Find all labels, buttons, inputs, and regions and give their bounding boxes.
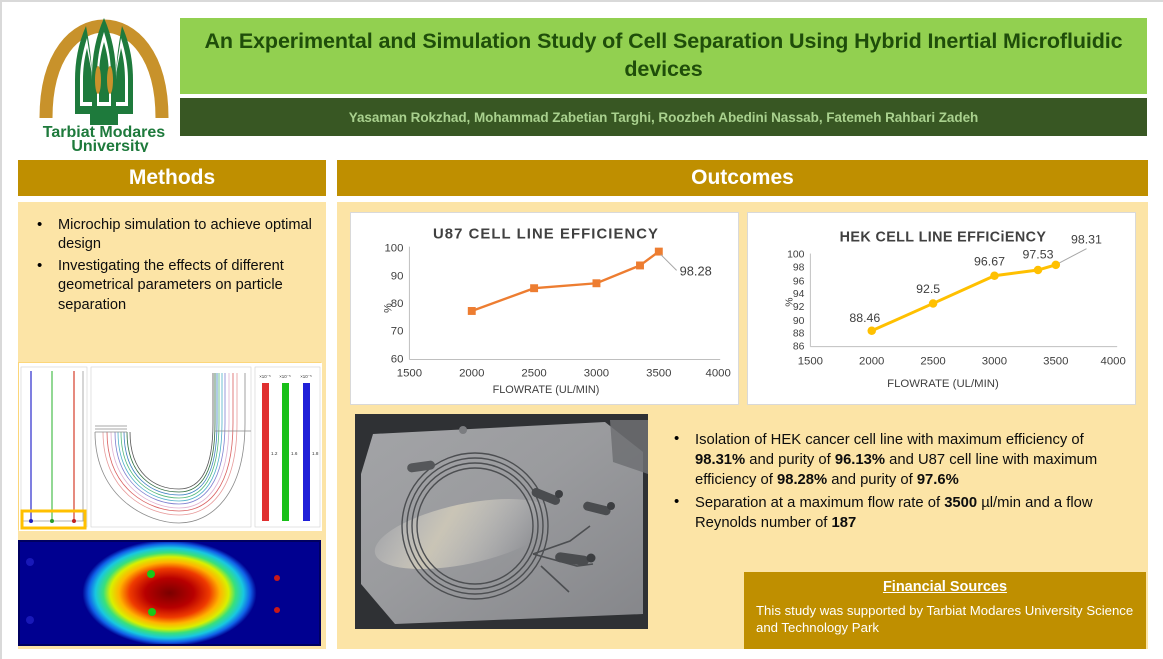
- outcomes-section-header: Outcomes: [337, 160, 1148, 196]
- poster-title-banner: An Experimental and Simulation Study of …: [180, 18, 1147, 94]
- authors-list: Yasaman Rokzhad, Mohammad Zabetian Targh…: [349, 110, 978, 125]
- bullet1-value3: 98.28%: [777, 472, 827, 488]
- y-tick: 100: [384, 243, 403, 255]
- colorbar-exponent-label-1: ×10⁻⁵: [259, 374, 271, 379]
- bullet2-value1: 3500: [944, 495, 977, 511]
- methods-bullet-list: Microchip simulation to achieve optimal …: [18, 202, 326, 323]
- y-tick: 98: [793, 262, 805, 273]
- chip-photo-artwork: [355, 414, 648, 629]
- list-item: Isolation of HEK cancer cell line with m…: [669, 430, 1135, 490]
- y-axis-label: %: [383, 303, 395, 313]
- colorbar-exponent-label-3: ×10⁻⁵: [300, 374, 312, 379]
- logo-artwork: Tarbiat Modares University: [30, 10, 178, 152]
- colorbar-exponent-label-2: ×10⁻⁵: [279, 374, 291, 379]
- y-tick: 100: [787, 250, 805, 261]
- chart-title: U87 CELL LINE EFFICIENCY: [433, 227, 659, 243]
- x-tick: 4000: [706, 367, 731, 379]
- x-axis-label: FLOWRATE (UL/MIN): [887, 378, 999, 390]
- bullet1-value2: 96.13%: [835, 452, 885, 468]
- financial-sources-box: Financial Sources This study was support…: [744, 572, 1146, 649]
- y-tick: 90: [391, 270, 404, 282]
- bullet1-value4: 97.6%: [917, 472, 959, 488]
- x-tick: 1500: [397, 367, 422, 379]
- x-tick: 3500: [646, 367, 671, 379]
- x-tick: 2500: [920, 355, 945, 367]
- bullet1-part4: and purity of: [827, 472, 917, 488]
- hek-chart-svg: HEK CELL LINE EFFICiENCY 100 98 96 94 92…: [748, 213, 1135, 404]
- microfluidic-chip-photograph: [355, 414, 648, 629]
- y-tick: 90: [793, 316, 805, 327]
- colorbar-value-label-3: 1.8: [312, 451, 319, 456]
- outcomes-bullet-list: Isolation of HEK cancer cell line with m…: [655, 416, 1145, 543]
- data-label: 96.67: [974, 254, 1005, 268]
- y-axis-label: %: [785, 297, 796, 306]
- particle-trajectory-simulation-figure: ×10⁻⁵ ×10⁻⁵ ×10⁻⁵ 1.2 1.6 1.8: [18, 362, 321, 530]
- colorbar-value-label-1: 1.2: [271, 451, 278, 456]
- logo-text-line2: University: [71, 138, 148, 152]
- x-axis-label: FLOWRATE (UL/MIN): [493, 384, 600, 396]
- authors-banner: Yasaman Rokzhad, Mohammad Zabetian Targh…: [180, 98, 1147, 136]
- x-tick: 3000: [982, 355, 1007, 367]
- y-tick: 96: [793, 276, 805, 287]
- methods-section-header: Methods: [18, 160, 326, 196]
- x-tick: 4000: [1101, 355, 1126, 367]
- simulation-artwork: ×10⁻⁵ ×10⁻⁵ ×10⁻⁵ 1.2 1.6 1.8: [19, 363, 322, 531]
- x-tick: 2500: [521, 367, 546, 379]
- y-tick: 88: [793, 329, 805, 340]
- velocity-profile-heatmap-figure: [18, 540, 321, 646]
- x-tick: 1500: [798, 355, 823, 367]
- outcomes-section-title: Outcomes: [691, 166, 794, 190]
- bullet2-part1: Separation at a maximum flow rate of: [695, 495, 944, 511]
- poster-canvas: Tarbiat Modares University An Experiment…: [0, 0, 1163, 659]
- y-tick: 60: [391, 353, 404, 365]
- chart-title: HEK CELL LINE EFFICiENCY: [840, 230, 1047, 246]
- bullet2-value2: 187: [832, 515, 857, 531]
- y-tick: 86: [793, 342, 805, 353]
- u87-chart-svg: U87 CELL LINE EFFICIENCY 100 90 80 70 60…: [351, 213, 738, 404]
- x-tick: 3500: [1043, 355, 1068, 367]
- y-tick: 70: [391, 326, 404, 338]
- x-tick: 3000: [584, 367, 609, 379]
- x-tick: 2000: [459, 367, 484, 379]
- bullet1-part1: Isolation of HEK cancer cell line with m…: [695, 432, 1084, 448]
- methods-section-title: Methods: [129, 166, 215, 190]
- list-item: Separation at a maximum flow rate of 350…: [669, 493, 1135, 533]
- x-tick: 2000: [859, 355, 884, 367]
- bullet1-value1: 98.31%: [695, 452, 745, 468]
- list-item: Microchip simulation to achieve optimal …: [32, 216, 316, 255]
- list-item: Investigating the effects of different g…: [32, 257, 316, 315]
- data-label: 88.46: [849, 311, 880, 325]
- u87-efficiency-chart: U87 CELL LINE EFFICIENCY 100 90 80 70 60…: [350, 212, 739, 405]
- heatmap-artwork: [18, 540, 321, 646]
- financial-sources-title: Financial Sources: [756, 579, 1134, 595]
- bullet1-part2: and purity of: [745, 452, 835, 468]
- data-label: 98.28: [680, 263, 712, 278]
- outcomes-panel: U87 CELL LINE EFFICIENCY 100 90 80 70 60…: [337, 202, 1148, 649]
- hek-efficiency-chart: HEK CELL LINE EFFICiENCY 100 98 96 94 92…: [747, 212, 1136, 405]
- university-logo: Tarbiat Modares University: [30, 10, 178, 152]
- methods-panel: Microchip simulation to achieve optimal …: [18, 202, 326, 649]
- page-title: An Experimental and Simulation Study of …: [180, 28, 1147, 83]
- data-label: 98.31: [1071, 233, 1102, 247]
- data-label: 92.5: [916, 282, 940, 296]
- colorbar-value-label-2: 1.6: [291, 451, 298, 456]
- data-label: 97.53: [1023, 248, 1054, 262]
- financial-sources-body: This study was supported by Tarbiat Moda…: [756, 602, 1134, 637]
